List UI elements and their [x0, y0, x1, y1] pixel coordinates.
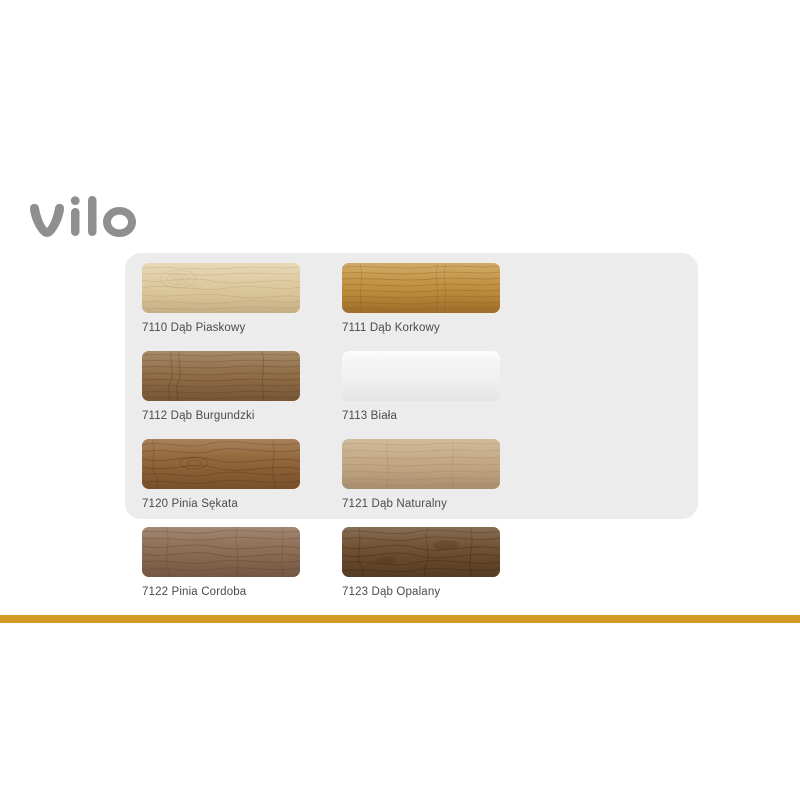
- swatch-item-7112[interactable]: 7112 Dąb Burgundzki: [135, 351, 335, 439]
- swatch-item-7111[interactable]: 7111 Dąb Korkowy: [335, 263, 535, 351]
- swatch-item-7123[interactable]: 7123 Dąb Opalany: [335, 527, 535, 615]
- brand-logo: [28, 196, 148, 248]
- swatch-chip[interactable]: [142, 263, 300, 313]
- swatch-chip[interactable]: [342, 439, 500, 489]
- swatch-label: 7113 Biała: [342, 410, 535, 422]
- swatch-label: 7110 Dąb Piaskowy: [142, 322, 335, 334]
- swatch-label: 7123 Dąb Opalany: [342, 586, 535, 598]
- chip-gloss-overlay: [142, 351, 300, 401]
- chip-gloss-overlay: [142, 527, 300, 577]
- swatch-item-7113[interactable]: 7113 Biała: [335, 351, 535, 439]
- swatch-chip[interactable]: [342, 351, 500, 401]
- chip-gloss-overlay: [342, 263, 500, 313]
- swatch-item-7120[interactable]: 7120 Pinia Sękata: [135, 439, 335, 527]
- chip-gloss-overlay: [142, 263, 300, 313]
- swatch-label: 7111 Dąb Korkowy: [342, 322, 535, 334]
- chip-gloss-overlay: [342, 351, 500, 401]
- swatch-chip[interactable]: [142, 439, 300, 489]
- swatch-label: 7112 Dąb Burgundzki: [142, 410, 335, 422]
- chip-gloss-overlay: [342, 439, 500, 489]
- swatch-grid: 7110 Dąb Piaskowy: [135, 263, 695, 703]
- swatch-label: 7121 Dąb Naturalny: [342, 498, 535, 510]
- swatch-chip[interactable]: [142, 527, 300, 577]
- swatch-label: 7120 Pinia Sękata: [142, 498, 335, 510]
- accent-bar: [0, 615, 800, 623]
- swatch-item-7122[interactable]: 7122 Pinia Cordoba: [135, 527, 335, 615]
- vilo-wordmark-icon: [28, 196, 148, 248]
- swatch-chip[interactable]: [342, 263, 500, 313]
- swatch-item-7110[interactable]: 7110 Dąb Piaskowy: [135, 263, 335, 351]
- swatch-item-7121[interactable]: 7121 Dąb Naturalny: [335, 439, 535, 527]
- swatch-chip[interactable]: [342, 527, 500, 577]
- chip-gloss-overlay: [142, 439, 300, 489]
- swatch-label: 7122 Pinia Cordoba: [142, 586, 335, 598]
- swatch-card-panel: 7110 Dąb Piaskowy: [125, 253, 698, 519]
- swatch-chip[interactable]: [142, 351, 300, 401]
- chip-gloss-overlay: [342, 527, 500, 577]
